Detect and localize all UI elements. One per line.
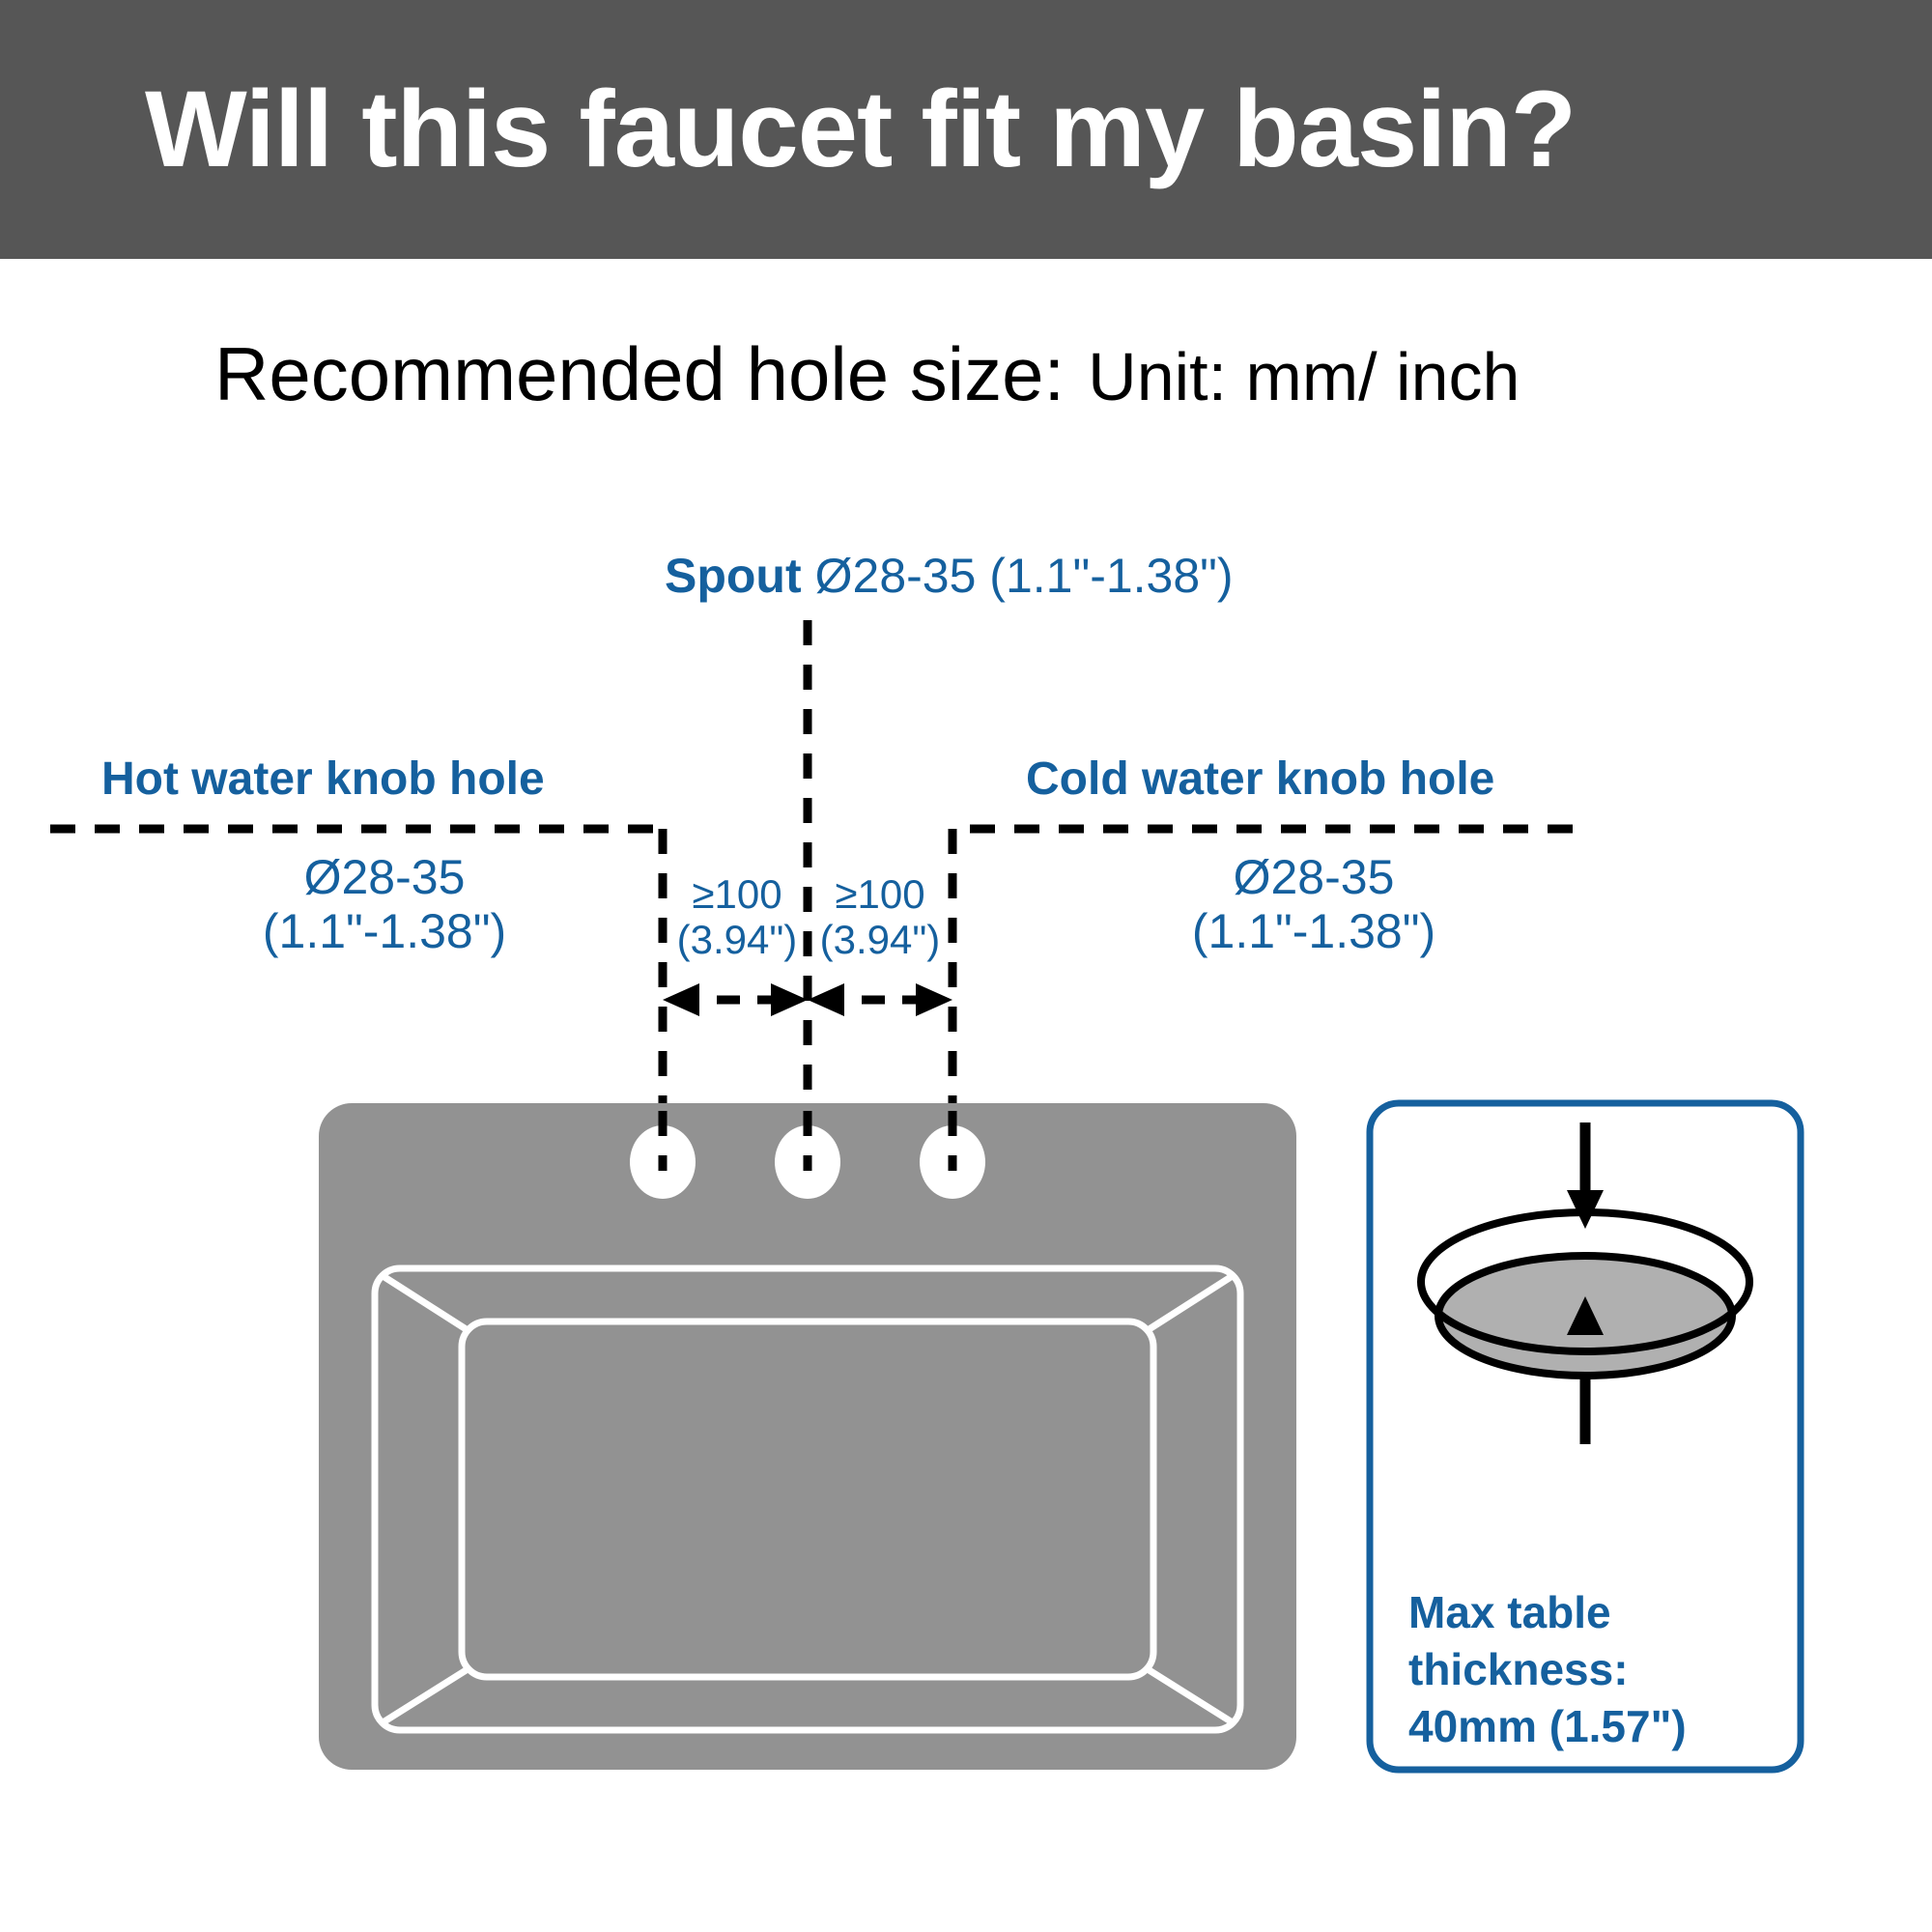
max-thickness-line2: thickness: bbox=[1408, 1641, 1687, 1698]
spacing-right-inch: (3.94") bbox=[810, 917, 951, 962]
cold-hole-dim-inch: (1.1"-1.38") bbox=[1150, 904, 1478, 958]
cold-hole-title: Cold water knob hole bbox=[1026, 753, 1494, 806]
hot-hole-dim-mm: Ø28-35 bbox=[220, 850, 549, 904]
cold-hole-dim-mm: Ø28-35 bbox=[1150, 850, 1478, 904]
spout-label: SpoutØ28-35 (1.1"-1.38") bbox=[665, 549, 1234, 603]
hot-hole-dim-inch: (1.1"-1.38") bbox=[220, 904, 549, 958]
dimension-arrow-right bbox=[808, 983, 952, 1016]
hot-hole-dimensions: Ø28-35 (1.1"-1.38") bbox=[220, 850, 549, 958]
max-table-thickness-label: Max table thickness: 40mm (1.57") bbox=[1408, 1584, 1687, 1755]
max-thickness-line1: Max table bbox=[1408, 1584, 1687, 1641]
spacing-right-label: ≥100 (3.94") bbox=[810, 871, 951, 962]
diagram-root: Will this faucet fit my basin? Recommend… bbox=[0, 0, 1932, 1932]
dimension-arrow-left bbox=[663, 983, 808, 1016]
basin-illustration bbox=[319, 1103, 1296, 1770]
max-thickness-line3: 40mm (1.57") bbox=[1408, 1698, 1687, 1755]
hot-hole-title: Hot water knob hole bbox=[101, 753, 545, 806]
spout-label-dim: Ø28-35 (1.1"-1.38") bbox=[815, 549, 1234, 603]
cold-hole-dimensions: Ø28-35 (1.1"-1.38") bbox=[1150, 850, 1478, 958]
spout-label-name: Spout bbox=[665, 549, 802, 603]
spacing-left-inch: (3.94") bbox=[667, 917, 808, 962]
spacing-right-mm: ≥100 bbox=[810, 871, 951, 917]
spacing-left-mm: ≥100 bbox=[667, 871, 808, 917]
spacing-left-label: ≥100 (3.94") bbox=[667, 871, 808, 962]
